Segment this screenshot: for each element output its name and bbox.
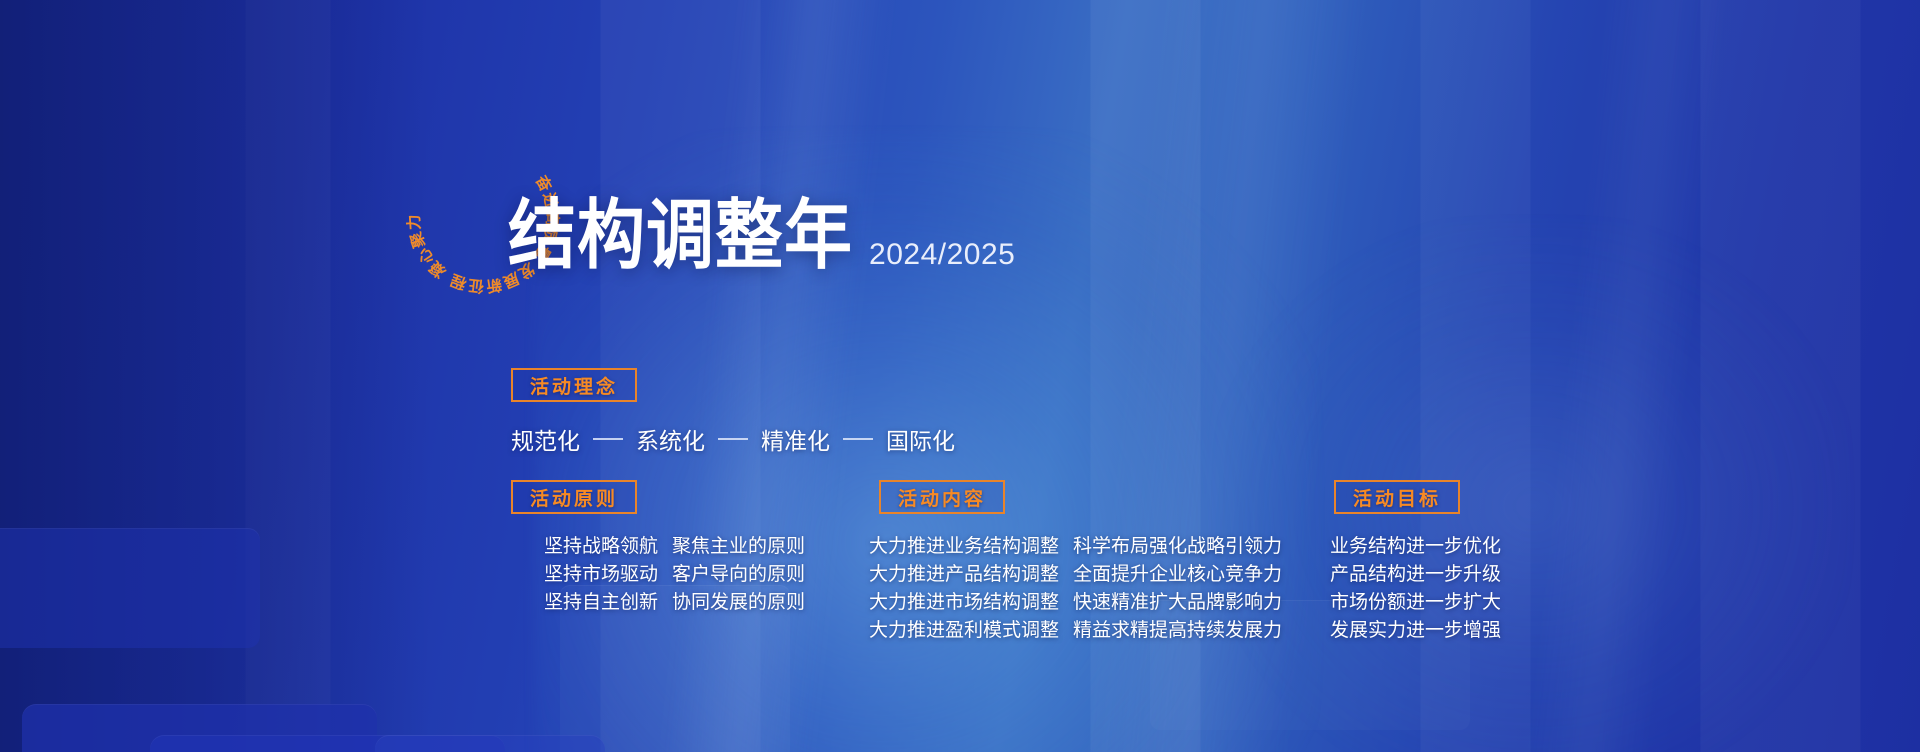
headline-period: 2024/2025 [869,240,1015,274]
list-item-primary: 大力推进市场结构调整 [869,589,1059,617]
principle-list: 坚持战略领航 聚焦主业的原则 坚持市场驱动 客户导向的原则 坚持自主创新 协同发… [544,533,805,617]
list-item-secondary: 全面提升企业核心竞争力 [1073,561,1282,589]
concept-keyword: 国际化 [886,422,955,456]
concept-keyword: 精准化 [761,422,830,456]
concept-keyword: 系统化 [636,422,705,456]
list-item: 坚持战略领航 聚焦主业的原则 [544,533,805,561]
badge-activity-goal[interactable]: 活动目标 [1334,480,1460,514]
goal-list: 业务结构进一步优化 产品结构进一步升级 市场份额进一步扩大 发展实力进一步增强 [1330,533,1501,645]
headline-block: 结构调整年 2024/2025 [508,206,1015,274]
list-item: 坚持自主创新 协同发展的原则 [544,589,805,617]
decorative-card [375,735,605,752]
list-item-primary: 业务结构进一步优化 [1330,533,1501,561]
concept-keyword: 规范化 [511,422,580,456]
badge-activity-content[interactable]: 活动内容 [879,480,1005,514]
list-item-primary: 坚持自主创新 [544,589,658,617]
page-title: 结构调整年 [508,198,853,274]
badge-label: 活动原则 [530,484,618,511]
list-item-primary: 大力推进产品结构调整 [869,561,1059,589]
list-item-secondary: 客户导向的原则 [672,561,805,589]
list-item: 发展实力进一步增强 [1330,617,1501,645]
badge-label: 活动内容 [898,484,986,511]
list-item: 大力推进盈利模式调整 精益求精提高持续发展力 [869,617,1282,645]
list-item: 大力推进业务结构调整 科学布局强化战略引领力 [869,533,1282,561]
list-item-primary: 坚持战略领航 [544,533,658,561]
list-item-secondary: 科学布局强化战略引领力 [1073,533,1282,561]
list-item-primary: 坚持市场驱动 [544,561,658,589]
list-item-primary: 发展实力进一步增强 [1330,617,1501,645]
list-item-secondary: 协同发展的原则 [672,589,805,617]
separator-dash-icon [843,438,873,440]
decorative-panel [0,528,260,648]
concept-keyword-list: 规范化 系统化 精准化 国际化 [511,422,955,456]
list-item-primary: 产品结构进一步升级 [1330,561,1501,589]
list-item-primary: 大力推进盈利模式调整 [869,617,1059,645]
list-item: 坚持市场驱动 客户导向的原则 [544,561,805,589]
badge-activity-principle[interactable]: 活动原则 [511,480,637,514]
badge-activity-concept[interactable]: 活动理念 [511,368,637,402]
list-item-secondary: 聚焦主业的原则 [672,533,805,561]
list-item-primary: 大力推进业务结构调整 [869,533,1059,561]
list-item-primary: 市场份额进一步扩大 [1330,589,1501,617]
list-item: 大力推进市场结构调整 快速精准扩大品牌影响力 [869,589,1282,617]
badge-label: 活动理念 [530,372,618,399]
separator-dash-icon [593,438,623,440]
badge-label: 活动目标 [1353,484,1441,511]
separator-dash-icon [718,438,748,440]
list-item-secondary: 精益求精提高持续发展力 [1073,617,1282,645]
content-list: 大力推进业务结构调整 科学布局强化战略引领力 大力推进产品结构调整 全面提升企业… [869,533,1282,645]
list-item-secondary: 快速精准扩大品牌影响力 [1073,589,1282,617]
list-item: 市场份额进一步扩大 [1330,589,1501,617]
list-item: 大力推进产品结构调整 全面提升企业核心竞争力 [869,561,1282,589]
list-item: 业务结构进一步优化 [1330,533,1501,561]
list-item: 产品结构进一步升级 [1330,561,1501,589]
campaign-banner: 奋进高质量 发展新征程 凝心聚力 促转型 增动能 结构调整年 2024/2025… [0,0,1920,752]
